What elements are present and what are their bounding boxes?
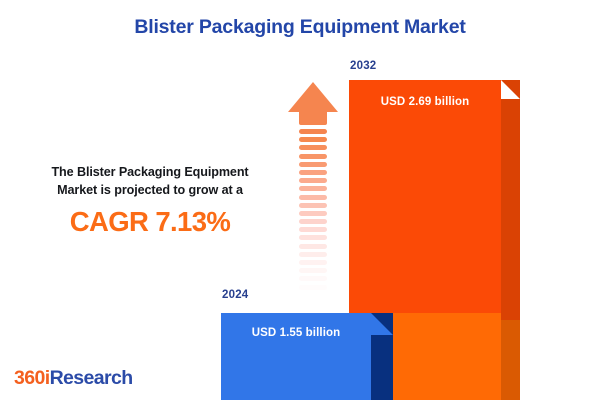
up-arrow-shaft-stripe	[299, 252, 327, 257]
up-arrow-shaft-stripe	[299, 276, 327, 281]
cagr-callout: The Blister Packaging Equipment Market i…	[22, 164, 278, 238]
bar-label-year-2024: 2024	[222, 289, 248, 301]
cagr-lead-line-1: The Blister Packaging Equipment	[51, 165, 248, 179]
brand-logo-secondary: Research	[50, 367, 133, 389]
up-arrow-shaft-stripe	[299, 260, 327, 265]
page-title: Blister Packaging Equipment Market	[0, 16, 600, 39]
up-arrow-shaft-stripe	[299, 211, 327, 216]
infographic-canvas: Blister Packaging Equipment Market 2032 …	[0, 0, 600, 400]
brand-logo-primary: 360i	[14, 367, 50, 389]
cagr-lead-text: The Blister Packaging Equipment Market i…	[22, 164, 278, 200]
up-arrow-icon	[288, 82, 338, 290]
up-arrow-shaft-stripe	[299, 145, 327, 150]
up-arrow-shaft-stripe	[299, 203, 327, 208]
up-arrow-shaft-stripe	[299, 137, 327, 142]
bar-value-2032: USD 2.69 billion	[349, 96, 501, 108]
up-arrow-head	[288, 82, 338, 112]
up-arrow-shaft-stripe	[299, 154, 327, 159]
up-arrow-shaft-stripe	[299, 195, 327, 200]
up-arrow-shaft-stripe	[299, 178, 327, 183]
up-arrow-shaft-stripe	[299, 170, 327, 175]
cagr-lead-line-2: Market is projected to grow at a	[57, 183, 243, 197]
up-arrow-shaft-stripe	[299, 219, 327, 224]
up-arrow-shaft-stripe	[299, 268, 327, 273]
up-arrow-neck	[299, 111, 327, 125]
up-arrow-shaft-stripe	[299, 162, 327, 167]
cagr-value: CAGR 7.13%	[22, 206, 278, 238]
up-arrow-shaft-stripe	[299, 244, 327, 249]
up-arrow-shaft-stripe	[299, 285, 327, 290]
bar-value-2024: USD 1.55 billion	[221, 327, 371, 339]
bar-label-year-2032: 2032	[350, 60, 376, 72]
up-arrow-shaft	[299, 129, 327, 290]
up-arrow-shaft-stripe	[299, 235, 327, 240]
up-arrow-shaft-stripe	[299, 129, 327, 134]
brand-logo[interactable]: 360iResearch	[14, 367, 133, 390]
up-arrow-shaft-stripe	[299, 186, 327, 191]
bar-2032-side-face-lower	[501, 320, 520, 400]
up-arrow-shaft-stripe	[299, 227, 327, 232]
